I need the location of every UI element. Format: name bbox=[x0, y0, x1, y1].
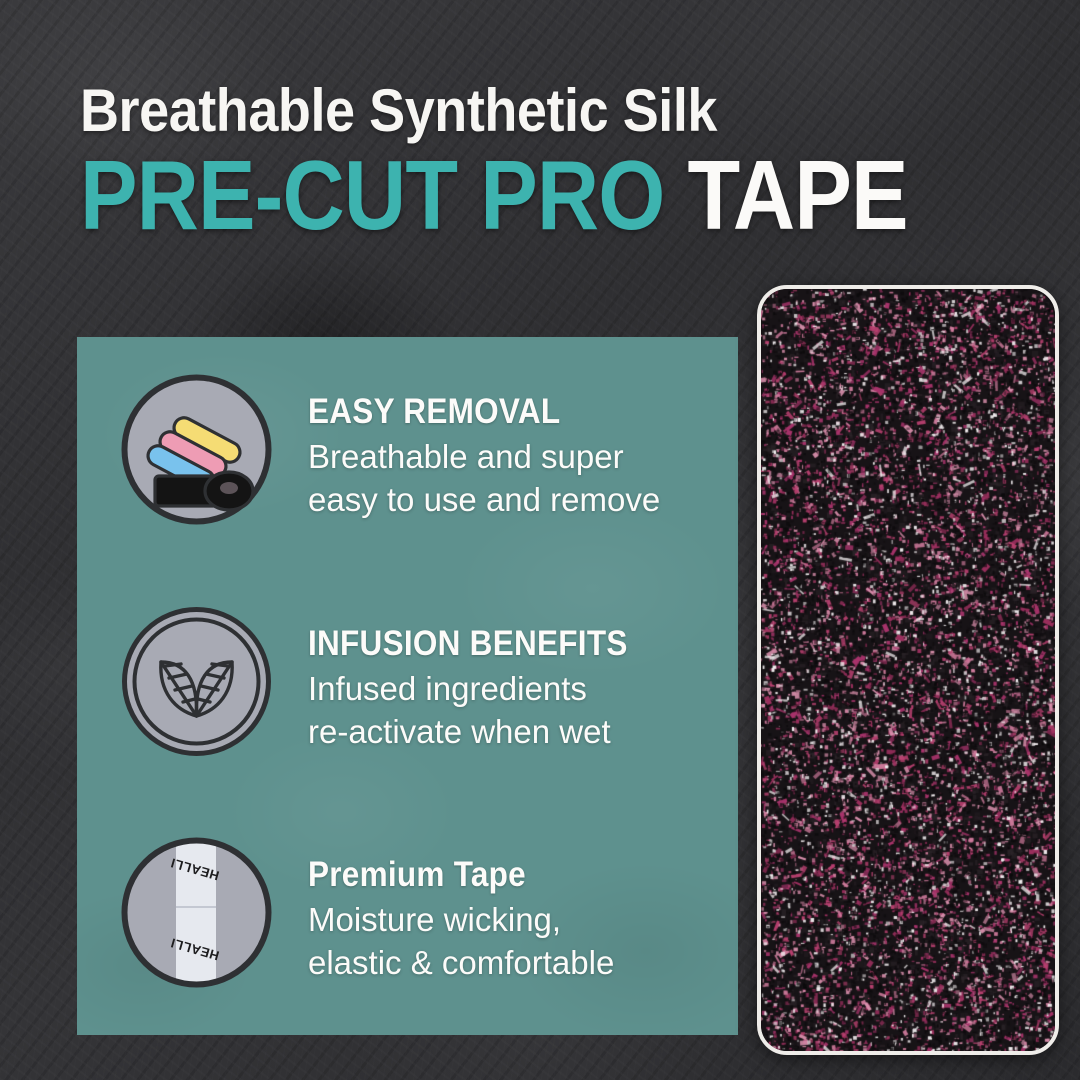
speckle-texture bbox=[761, 289, 1055, 1051]
headline-accent-text: PRE-CUT PRO bbox=[80, 140, 664, 250]
product-tape-strip-image bbox=[757, 285, 1059, 1055]
feature-text: INFUSION BENEFITS Infused ingredients re… bbox=[308, 604, 663, 754]
headline-block: Breathable Synthetic Silk PRE-CUT PRO TA… bbox=[80, 82, 1020, 244]
feature-title: EASY REMOVAL bbox=[308, 394, 625, 431]
tape-strips-and-rolls-icon bbox=[119, 372, 274, 527]
feature-item: HEALLI HEALLI Premium Tape Moisture wick… bbox=[119, 835, 614, 990]
feature-description: Infused ingredients re-activate when wet bbox=[308, 667, 663, 754]
feature-text: EASY REMOVAL Breathable and super easy t… bbox=[308, 372, 660, 522]
branded-tape-strip-icon: HEALLI HEALLI bbox=[119, 835, 274, 990]
leaves-infusion-icon bbox=[119, 604, 274, 759]
feature-title: INFUSION BENEFITS bbox=[308, 626, 628, 663]
feature-item: INFUSION BENEFITS Infused ingredients re… bbox=[119, 604, 663, 759]
feature-description: Breathable and super easy to use and rem… bbox=[308, 435, 660, 522]
feature-item: EASY REMOVAL Breathable and super easy t… bbox=[119, 372, 660, 527]
feature-text: Premium Tape Moisture wicking, elastic &… bbox=[308, 835, 614, 985]
feature-title: Premium Tape bbox=[308, 857, 584, 894]
headline-line-2: PRE-CUT PRO TAPE bbox=[80, 146, 908, 244]
headline-white-text: TAPE bbox=[688, 140, 908, 250]
features-panel: EASY REMOVAL Breathable and super easy t… bbox=[77, 337, 738, 1035]
headline-line-1: Breathable Synthetic Silk bbox=[80, 82, 926, 140]
feature-description: Moisture wicking, elastic & comfortable bbox=[308, 898, 614, 985]
